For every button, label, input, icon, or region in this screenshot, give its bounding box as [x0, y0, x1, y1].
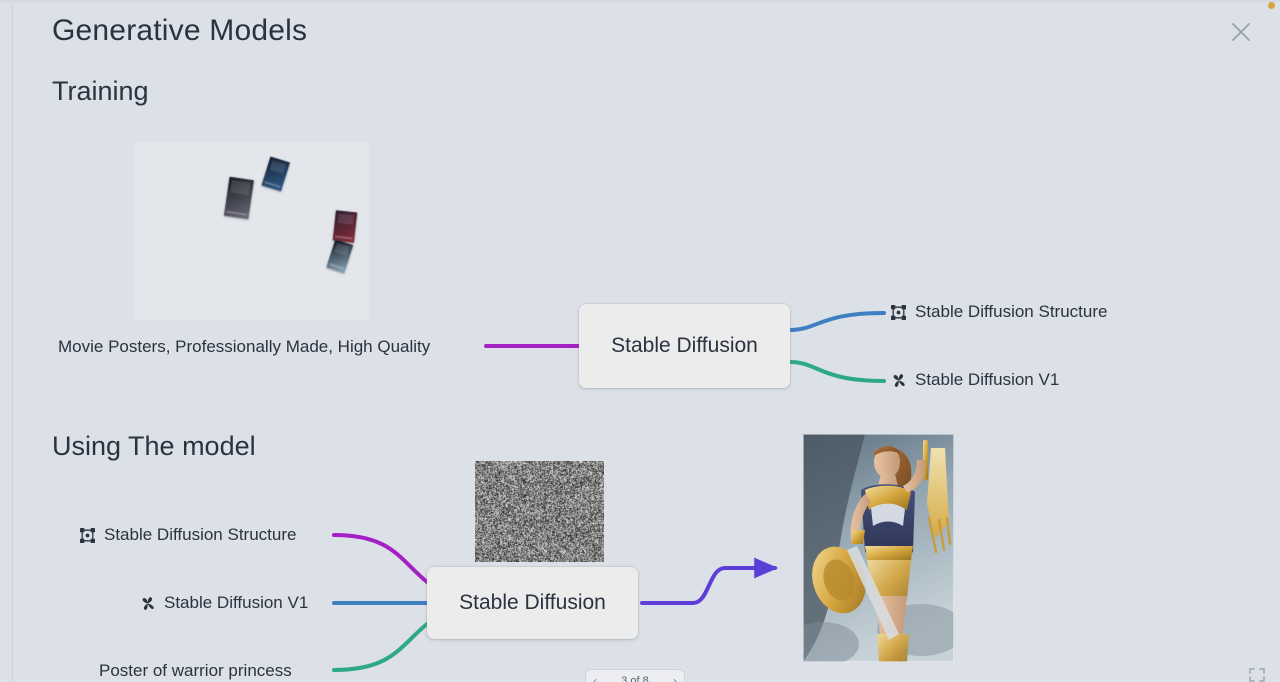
- next-page-button[interactable]: ›: [673, 675, 677, 682]
- node-stable-diffusion-training[interactable]: Stable Diffusion: [579, 304, 790, 388]
- input-prompt-text: Poster of warrior princess: [99, 661, 292, 681]
- slide-viewer: Generative Models Training Using The mod…: [0, 0, 1280, 682]
- generated-result-image: [803, 434, 954, 662]
- page-navigation[interactable]: ‹ 3 of 8 ›: [585, 669, 685, 682]
- status-dot: [1268, 2, 1275, 9]
- noise-latent-image: [475, 461, 604, 562]
- page-counter: 3 of 8: [621, 675, 649, 682]
- section-heading-using: Using The model: [52, 431, 256, 462]
- pinwheel-icon: [890, 372, 907, 389]
- input-label: Stable Diffusion V1: [164, 593, 308, 613]
- output-label: Stable Diffusion V1: [915, 370, 1059, 390]
- wire-prompt-to-node: [334, 624, 427, 670]
- input-stable-diffusion-v1[interactable]: Stable Diffusion V1: [139, 593, 308, 613]
- input-stable-diffusion-structure[interactable]: Stable Diffusion Structure: [79, 525, 296, 545]
- fullscreen-icon: [1249, 668, 1265, 682]
- training-dataset-caption: Movie Posters, Professionally Made, High…: [58, 337, 430, 357]
- output-label: Stable Diffusion Structure: [915, 302, 1107, 322]
- wire-structure-to-node: [334, 535, 427, 582]
- wire-node-to-v1: [790, 362, 884, 381]
- wire-node-to-structure: [790, 313, 884, 330]
- output-stable-diffusion-v1[interactable]: Stable Diffusion V1: [890, 370, 1059, 390]
- wire-node-to-result: [642, 568, 775, 603]
- structure-nodes-icon: [79, 527, 96, 544]
- window-chrome-left-divider: [12, 3, 13, 682]
- output-stable-diffusion-structure[interactable]: Stable Diffusion Structure: [890, 302, 1107, 322]
- node-stable-diffusion-using[interactable]: Stable Diffusion: [427, 567, 638, 639]
- warrior-princess-artwork: [803, 434, 954, 662]
- section-heading-training: Training: [52, 76, 149, 107]
- close-icon: [1228, 19, 1254, 45]
- training-dataset-image: [134, 142, 369, 320]
- close-button[interactable]: [1224, 15, 1258, 49]
- window-chrome-top: [0, 0, 1280, 3]
- fullscreen-button[interactable]: [1246, 666, 1268, 682]
- structure-nodes-icon: [890, 304, 907, 321]
- pinwheel-icon: [139, 595, 156, 612]
- page-title: Generative Models: [52, 14, 307, 48]
- input-label: Stable Diffusion Structure: [104, 525, 296, 545]
- prev-page-button[interactable]: ‹: [593, 675, 597, 682]
